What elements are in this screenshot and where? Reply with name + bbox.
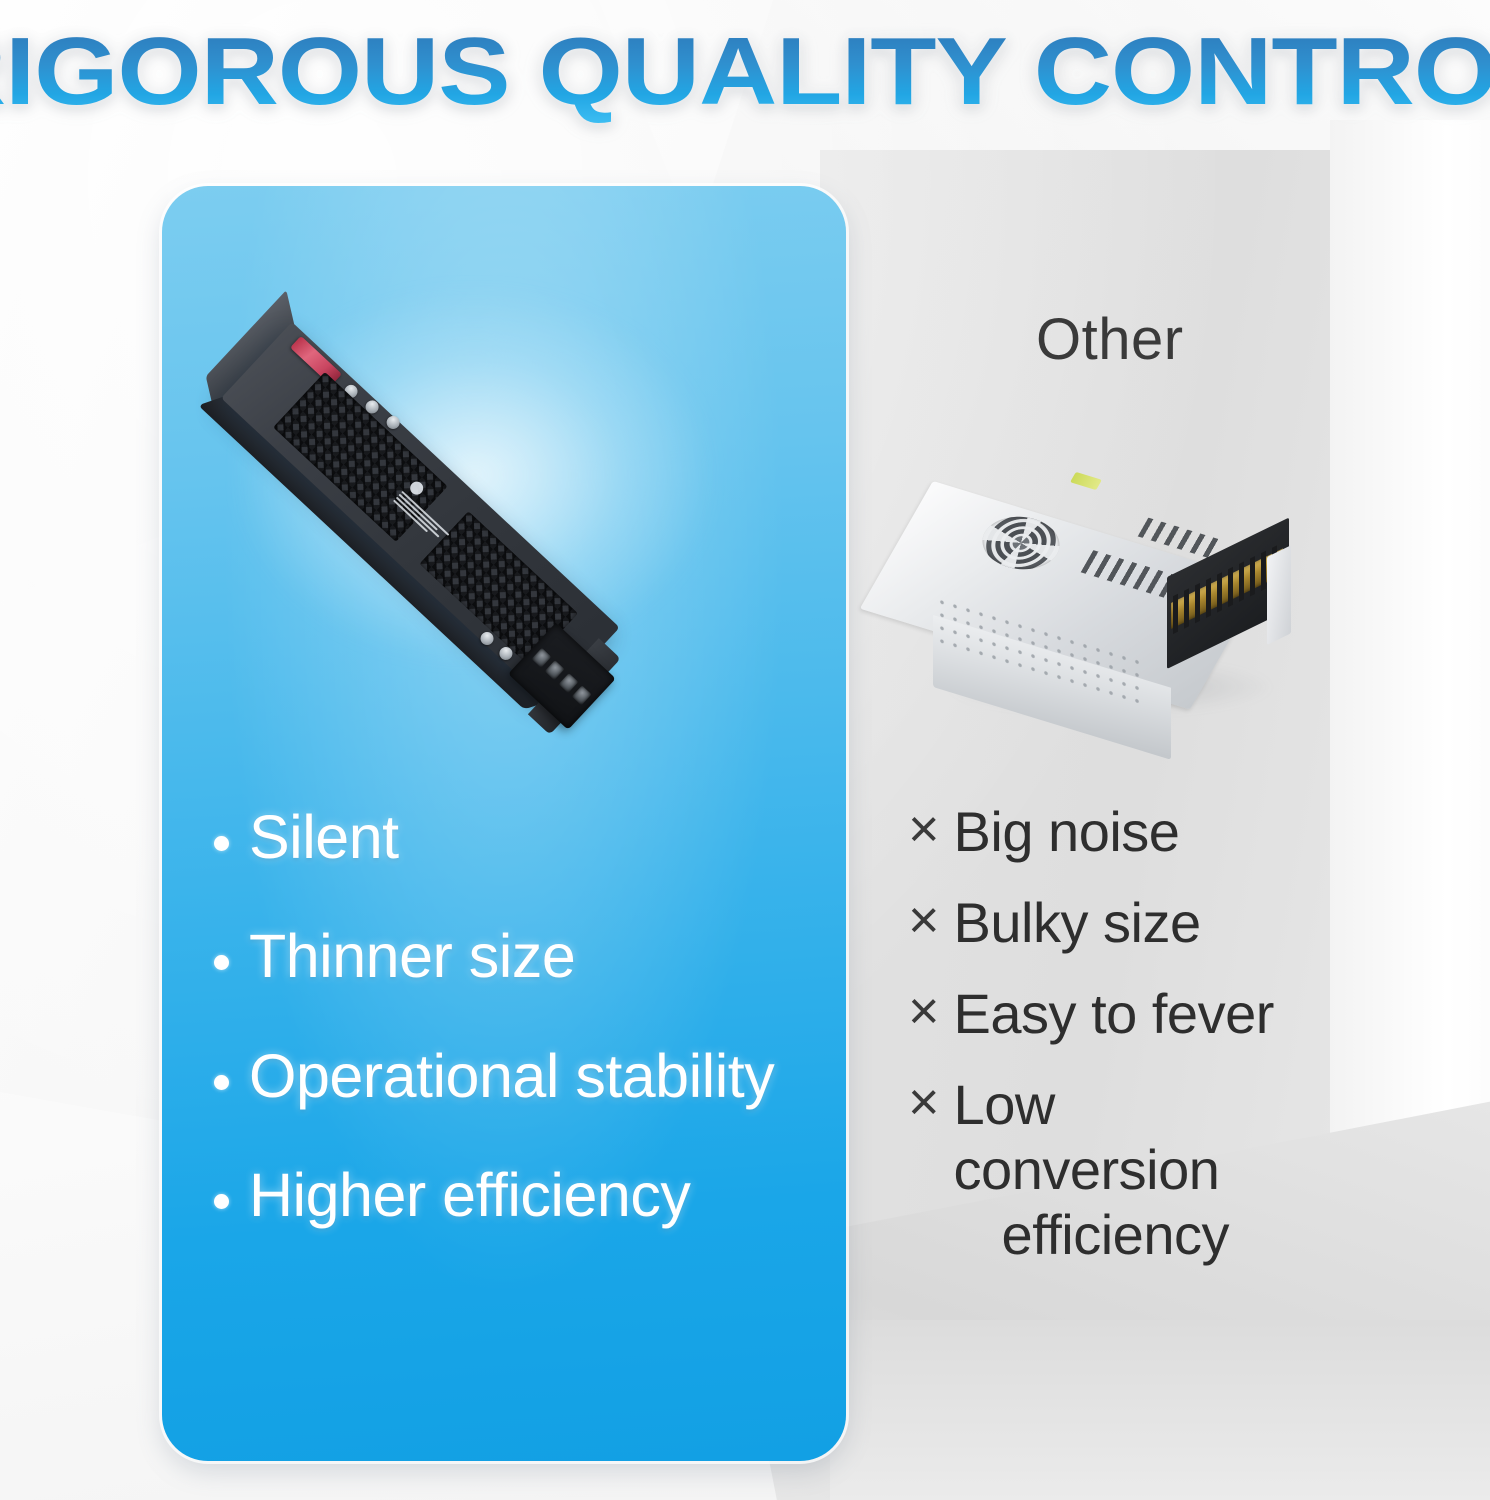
con-label-line1: Low conversion	[954, 1073, 1220, 1201]
background-facet-bottom-strip	[830, 1320, 1490, 1500]
cons-list: × Big noise × Bulky size × Easy to fever…	[908, 800, 1328, 1268]
terminal-screw	[545, 660, 565, 680]
list-item: × Low conversion efficiency	[908, 1073, 1328, 1268]
other-column-title: Other	[1036, 306, 1184, 373]
background-facet-right-edge	[1330, 120, 1490, 1500]
dot-bullet-icon	[214, 1075, 229, 1090]
pro-label: Operational stability	[249, 1045, 774, 1108]
bulky-power-supply-image	[905, 455, 1325, 745]
con-label: Easy to fever	[954, 982, 1274, 1047]
con-label-line2: efficiency	[954, 1203, 1328, 1268]
list-item: × Big noise	[908, 800, 1328, 865]
pro-label: Silent	[249, 806, 399, 869]
dot-bullet-icon	[214, 1194, 229, 1209]
label-sticker	[1070, 472, 1102, 490]
terminal-screw	[559, 673, 579, 693]
pros-list: Silent Thinner size Operational stabilit…	[214, 806, 834, 1228]
con-label: Low conversion efficiency	[954, 1073, 1328, 1268]
list-item: Operational stability	[214, 1045, 834, 1108]
cross-mark-icon: ×	[908, 982, 940, 1040]
page-title: RIGOROUS QUALITY CONTROL	[0, 22, 1490, 123]
list-item: × Easy to fever	[908, 982, 1328, 1047]
con-label: Big noise	[954, 800, 1180, 865]
cross-mark-icon: ×	[908, 1073, 940, 1131]
cross-mark-icon: ×	[908, 800, 940, 858]
dot-bullet-icon	[214, 955, 229, 970]
terminal-screw	[532, 647, 552, 667]
cross-mark-icon: ×	[908, 891, 940, 949]
con-label: Bulky size	[954, 891, 1201, 956]
list-item: Thinner size	[214, 925, 834, 988]
dot-bullet-icon	[214, 836, 229, 851]
list-item: × Bulky size	[908, 891, 1328, 956]
pro-label: Thinner size	[249, 925, 575, 988]
marketing-banner: RIGOROUS QUALITY CONTROL RIGOROUS QUALIT…	[0, 0, 1490, 1500]
terminal-screw	[572, 685, 592, 705]
mounting-flange	[1267, 545, 1291, 645]
list-item: Silent	[214, 806, 834, 869]
terminal-pins	[1173, 543, 1281, 634]
bulky-device-body	[915, 465, 1315, 715]
list-item: Higher efficiency	[214, 1164, 834, 1227]
slim-power-supply-image	[200, 250, 760, 700]
pro-label: Higher efficiency	[249, 1164, 690, 1227]
